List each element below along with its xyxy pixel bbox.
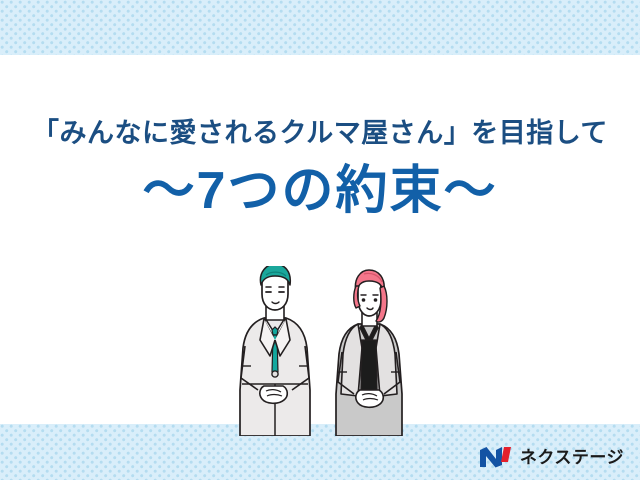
top-dotted-band (0, 0, 640, 55)
headline-line-2: 〜7つの約束〜 (0, 163, 640, 220)
headline-block: 「みんなに愛されるクルマ屋さん」を目指して 〜7つの約束〜 (0, 118, 640, 220)
brand-logo: ネクステージ (479, 446, 624, 468)
staff-illustration-svg (236, 266, 416, 436)
staff-illustration (236, 266, 416, 436)
nextage-n-mark-icon (479, 446, 513, 468)
promo-slide: 「みんなに愛されるクルマ屋さん」を目指して 〜7つの約束〜 (0, 0, 640, 480)
brand-logo-text: ネクステージ (520, 449, 624, 466)
male-staff-figure (240, 266, 310, 436)
female-staff-figure (336, 270, 402, 436)
headline-line-1: 「みんなに愛されるクルマ屋さん」を目指して (0, 118, 640, 149)
